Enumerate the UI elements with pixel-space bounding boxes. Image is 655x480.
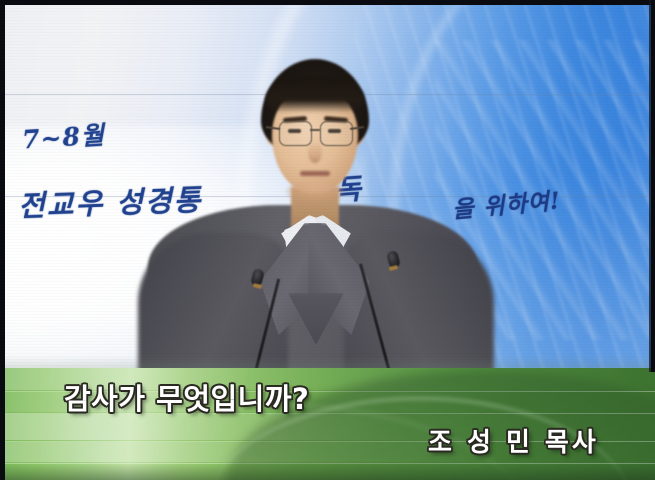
microphone-right-band <box>389 265 399 271</box>
speaker-hair-fringe <box>266 77 364 113</box>
eyeglasses-lens-right-icon <box>320 121 353 146</box>
microphone-right-icon <box>368 246 448 372</box>
backdrop-handwriting-line-1: 7~8월 <box>21 116 106 157</box>
microphone-left-band <box>253 283 263 289</box>
eyeglasses-lens-left-icon <box>279 121 312 146</box>
broadcast-frame: 7~8월 전교우 성경통 독 을 위하여! <box>0 0 655 480</box>
eyeglasses-bridge-icon <box>310 129 320 131</box>
banner-bottom-shadow <box>0 464 655 480</box>
lower-third-banner: 감사가 무엇입니까? 조 성 민 목사 <box>0 368 655 480</box>
speaker-name-label: 조 성 민 목사 <box>428 422 599 459</box>
speaker-chin <box>286 181 344 203</box>
speaker-mouth <box>300 171 330 176</box>
sermon-title: 감사가 무엇입니까? <box>64 376 309 418</box>
video-area: 7~8월 전교우 성경통 독 을 위하여! <box>0 0 655 372</box>
speaker-nose <box>308 141 322 163</box>
